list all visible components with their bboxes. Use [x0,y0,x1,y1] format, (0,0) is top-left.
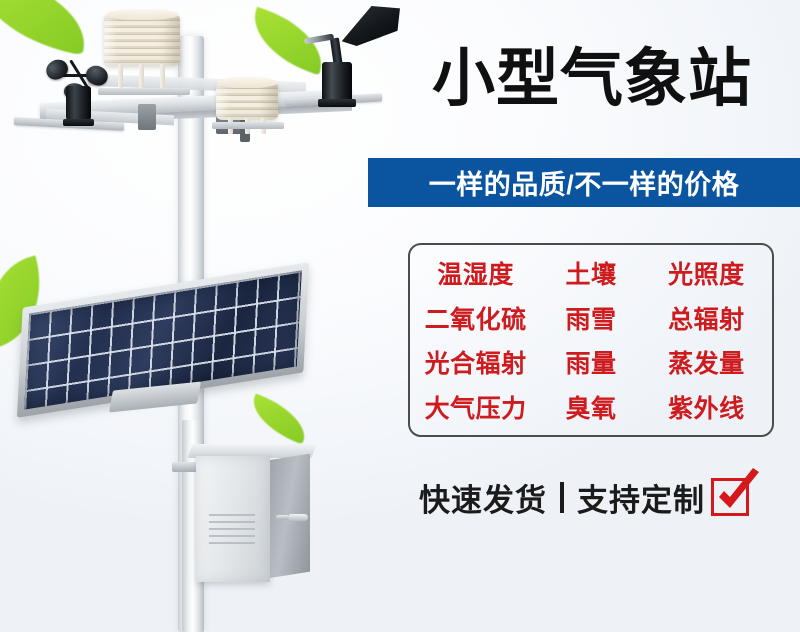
feature-item: 土壤 [565,255,616,291]
anemometer-body [66,86,91,121]
feature-item: 雨雪 [565,300,616,336]
latch-handle-icon [288,514,308,521]
radiation-shield-icon [216,82,278,120]
control-enclosure-box [196,452,308,586]
feature-item: 蒸发量 [668,344,745,380]
feature-item: 总辐射 [668,300,745,336]
shield-mount-plate [212,122,284,129]
shield-cap [217,77,277,88]
shield-cap [106,9,179,20]
shield-leg [160,64,165,88]
feature-item: 光合辐射 [425,344,527,380]
feature-item: 二氧化硫 [425,300,527,336]
feature-list-box: 温湿度 土壤 光照度 二氧化硫 雨雪 总辐射 光合辐射 雨量 蒸发量 大气压力 … [408,243,774,437]
feature-item: 温湿度 [437,255,514,291]
customization-text: 支持定制 [577,475,705,520]
mount-clamp [138,104,156,130]
control-box-face [196,456,270,582]
anemometer-cup [43,56,71,83]
radiation-shield-icon [104,14,180,66]
vertical-divider [560,482,564,513]
check-mark-icon [711,478,749,516]
product-title: 小型气象站 [384,48,800,111]
shield-leg [118,64,123,88]
weather-station-photo [0,0,400,632]
wind-vane-body [322,62,352,102]
feature-item: 光照度 [668,255,745,291]
feature-item: 雨量 [565,344,616,380]
product-banner-image: 小型气象站 一样的品质/不一样的价格 温湿度 土壤 光照度 二氧化硫 雨雪 总辐… [0,0,800,632]
feature-item: 紫外线 [668,389,745,425]
shield-plates [104,14,180,66]
fast-shipping-text: 快速发货 [419,475,547,520]
service-promise-line: 快速发货 支持定制 [368,470,800,524]
marketing-panel: 小型气象站 一样的品质/不一样的价格 温湿度 土壤 光照度 二氧化硫 雨雪 总辐… [368,0,800,632]
shield-leg [139,64,144,88]
feature-item: 大气压力 [425,389,527,425]
slogan-banner: 一样的品质/不一样的价格 [368,158,800,207]
feature-item: 臭氧 [565,389,616,425]
slogan-text: 一样的品质/不一样的价格 [429,163,740,202]
anemometer-icon [46,52,114,120]
ventilation-louvers-icon [209,514,255,544]
